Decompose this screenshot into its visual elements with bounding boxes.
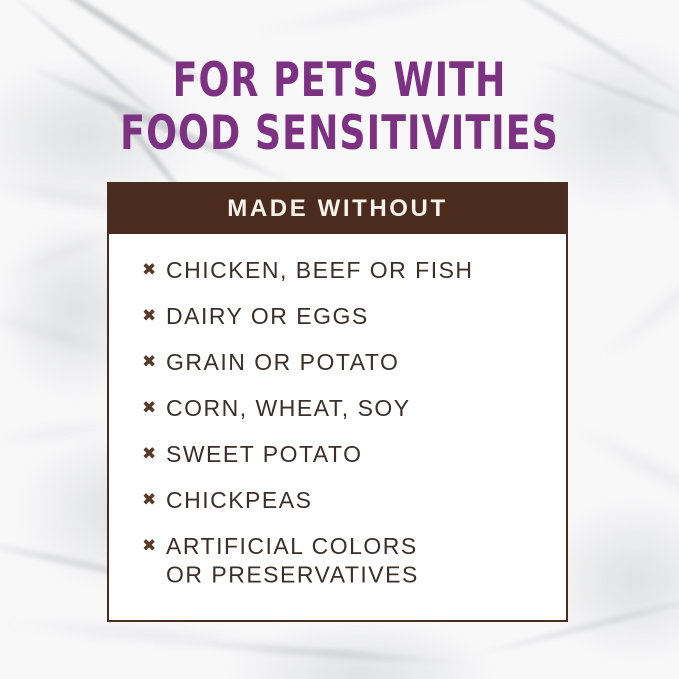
list-item-line: CORN, WHEAT, SOY [166,394,411,423]
list-item: ✖GRAIN OR POTATO [109,348,566,376]
x-mark-icon: ✖ [142,532,166,560]
x-mark-icon: ✖ [142,486,166,514]
list-item-line: CHICKPEAS [166,486,312,515]
list-item-label: CORN, WHEAT, SOY [166,394,411,423]
list-item-line: ARTIFICIAL COLORS [166,531,419,560]
card-header-bar: MADE WITHOUT [109,184,566,234]
list-item: ✖CORN, WHEAT, SOY [109,394,566,422]
x-mark-icon: ✖ [142,256,166,284]
list-item: ✖CHICKPEAS [109,486,566,514]
list-item: ✖DAIRY OR EGGS [109,302,566,330]
list-item-label: SWEET POTATO [166,440,363,469]
list-item-label: GRAIN OR POTATO [166,348,399,377]
list-item-label: DAIRY OR EGGS [166,302,369,331]
list-item-line: GRAIN OR POTATO [166,348,399,377]
card-header-title: MADE WITHOUT [227,197,448,221]
list-item-line: SWEET POTATO [166,440,363,469]
list-item-label: CHICKEN, BEEF OR FISH [166,256,474,285]
page-title-line-1: FOR PETS WITH [48,54,632,107]
list-item-line: CHICKEN, BEEF OR FISH [166,256,474,285]
list-item-line: DAIRY OR EGGS [166,302,369,331]
list-item: ✖CHICKEN, BEEF OR FISH [109,256,566,284]
made-without-card: MADE WITHOUT ✖CHICKEN, BEEF OR FISH✖DAIR… [107,182,568,622]
x-mark-icon: ✖ [142,348,166,376]
marble-vein [252,0,509,36]
marble-vein [596,240,679,366]
list-item: ✖SWEET POTATO [109,440,566,468]
list-item-line: OR PRESERVATIVES [166,560,419,589]
x-mark-icon: ✖ [142,302,166,330]
page-title-line-2: FOOD SENSITIVITIES [48,107,632,160]
list-item-label: ARTIFICIAL COLORSOR PRESERVATIVES [166,531,419,588]
page-title: FOR PETS WITH FOOD SENSITIVITIES [0,54,679,160]
x-mark-icon: ✖ [142,440,166,468]
list-item-label: CHICKPEAS [166,486,312,515]
excluded-ingredients-list: ✖CHICKEN, BEEF OR FISH✖DAIRY OR EGGS✖GRA… [109,234,566,588]
list-item: ✖ARTIFICIAL COLORSOR PRESERVATIVES [109,532,566,588]
x-mark-icon: ✖ [142,394,166,422]
